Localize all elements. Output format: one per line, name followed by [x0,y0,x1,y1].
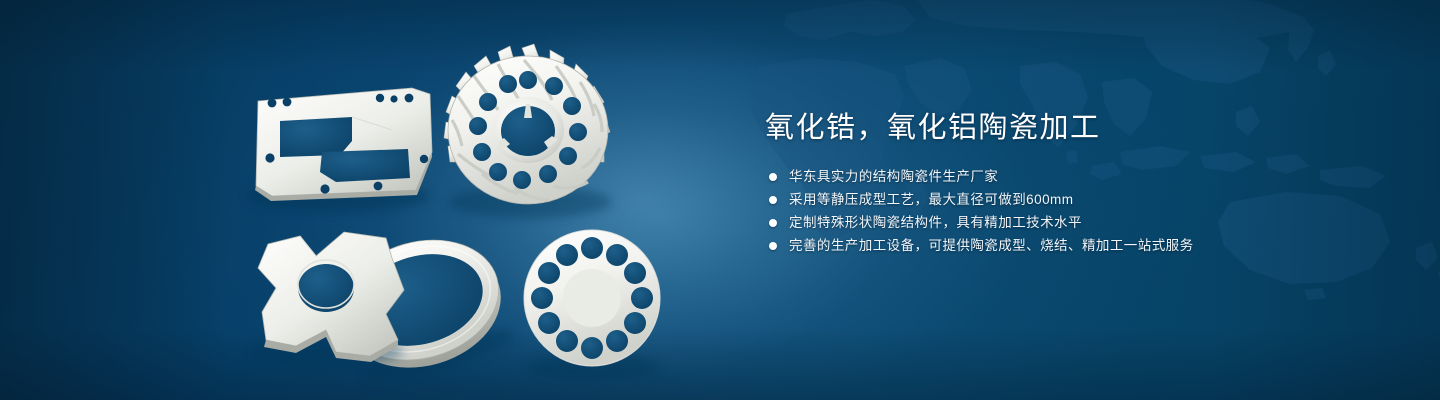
bullet-circle-icon [769,196,777,204]
ceramic-cross-shaped-plate [252,232,404,366]
banner-text-column: 氧化锆，氧化铝陶瓷加工 华东具实力的结构陶瓷件生产厂家 采用等静压成型工艺，最大… [765,108,1385,258]
ceramic-perforated-disc [524,230,660,379]
bullet-circle-icon [769,219,777,227]
ceramic-parts-photo-group [0,0,720,400]
ceramic-impeller-vaned-disc [444,44,612,218]
bullet-circle-icon [769,173,777,181]
bullet-text: 定制特殊形状陶瓷结构件，具有精加工技术水平 [789,212,1082,234]
bullet-circle-icon [769,242,777,250]
list-item: 华东具实力的结构陶瓷件生产厂家 [769,166,1385,188]
list-item: 完善的生产加工设备，可提供陶瓷成型、烧结、精加工一站式服务 [769,235,1385,257]
bullet-text: 采用等静压成型工艺，最大直径可做到600mm [789,189,1073,211]
list-item: 采用等静压成型工艺，最大直径可做到600mm [769,189,1385,211]
bullet-text: 完善的生产加工设备，可提供陶瓷成型、烧结、精加工一站式服务 [789,235,1194,257]
list-item: 定制特殊形状陶瓷结构件，具有精加工技术水平 [769,212,1385,234]
ceramic-products-hero-banner: 氧化锆，氧化铝陶瓷加工 华东具实力的结构陶瓷件生产厂家 采用等静压成型工艺，最大… [0,0,1440,400]
ceramic-plate-with-cutouts [246,88,432,212]
bullet-text: 华东具实力的结构陶瓷件生产厂家 [789,166,998,188]
feature-bullet-list: 华东具实力的结构陶瓷件生产厂家 采用等静压成型工艺，最大直径可做到600mm 定… [769,166,1385,257]
banner-headline: 氧化锆，氧化铝陶瓷加工 [765,108,1385,148]
